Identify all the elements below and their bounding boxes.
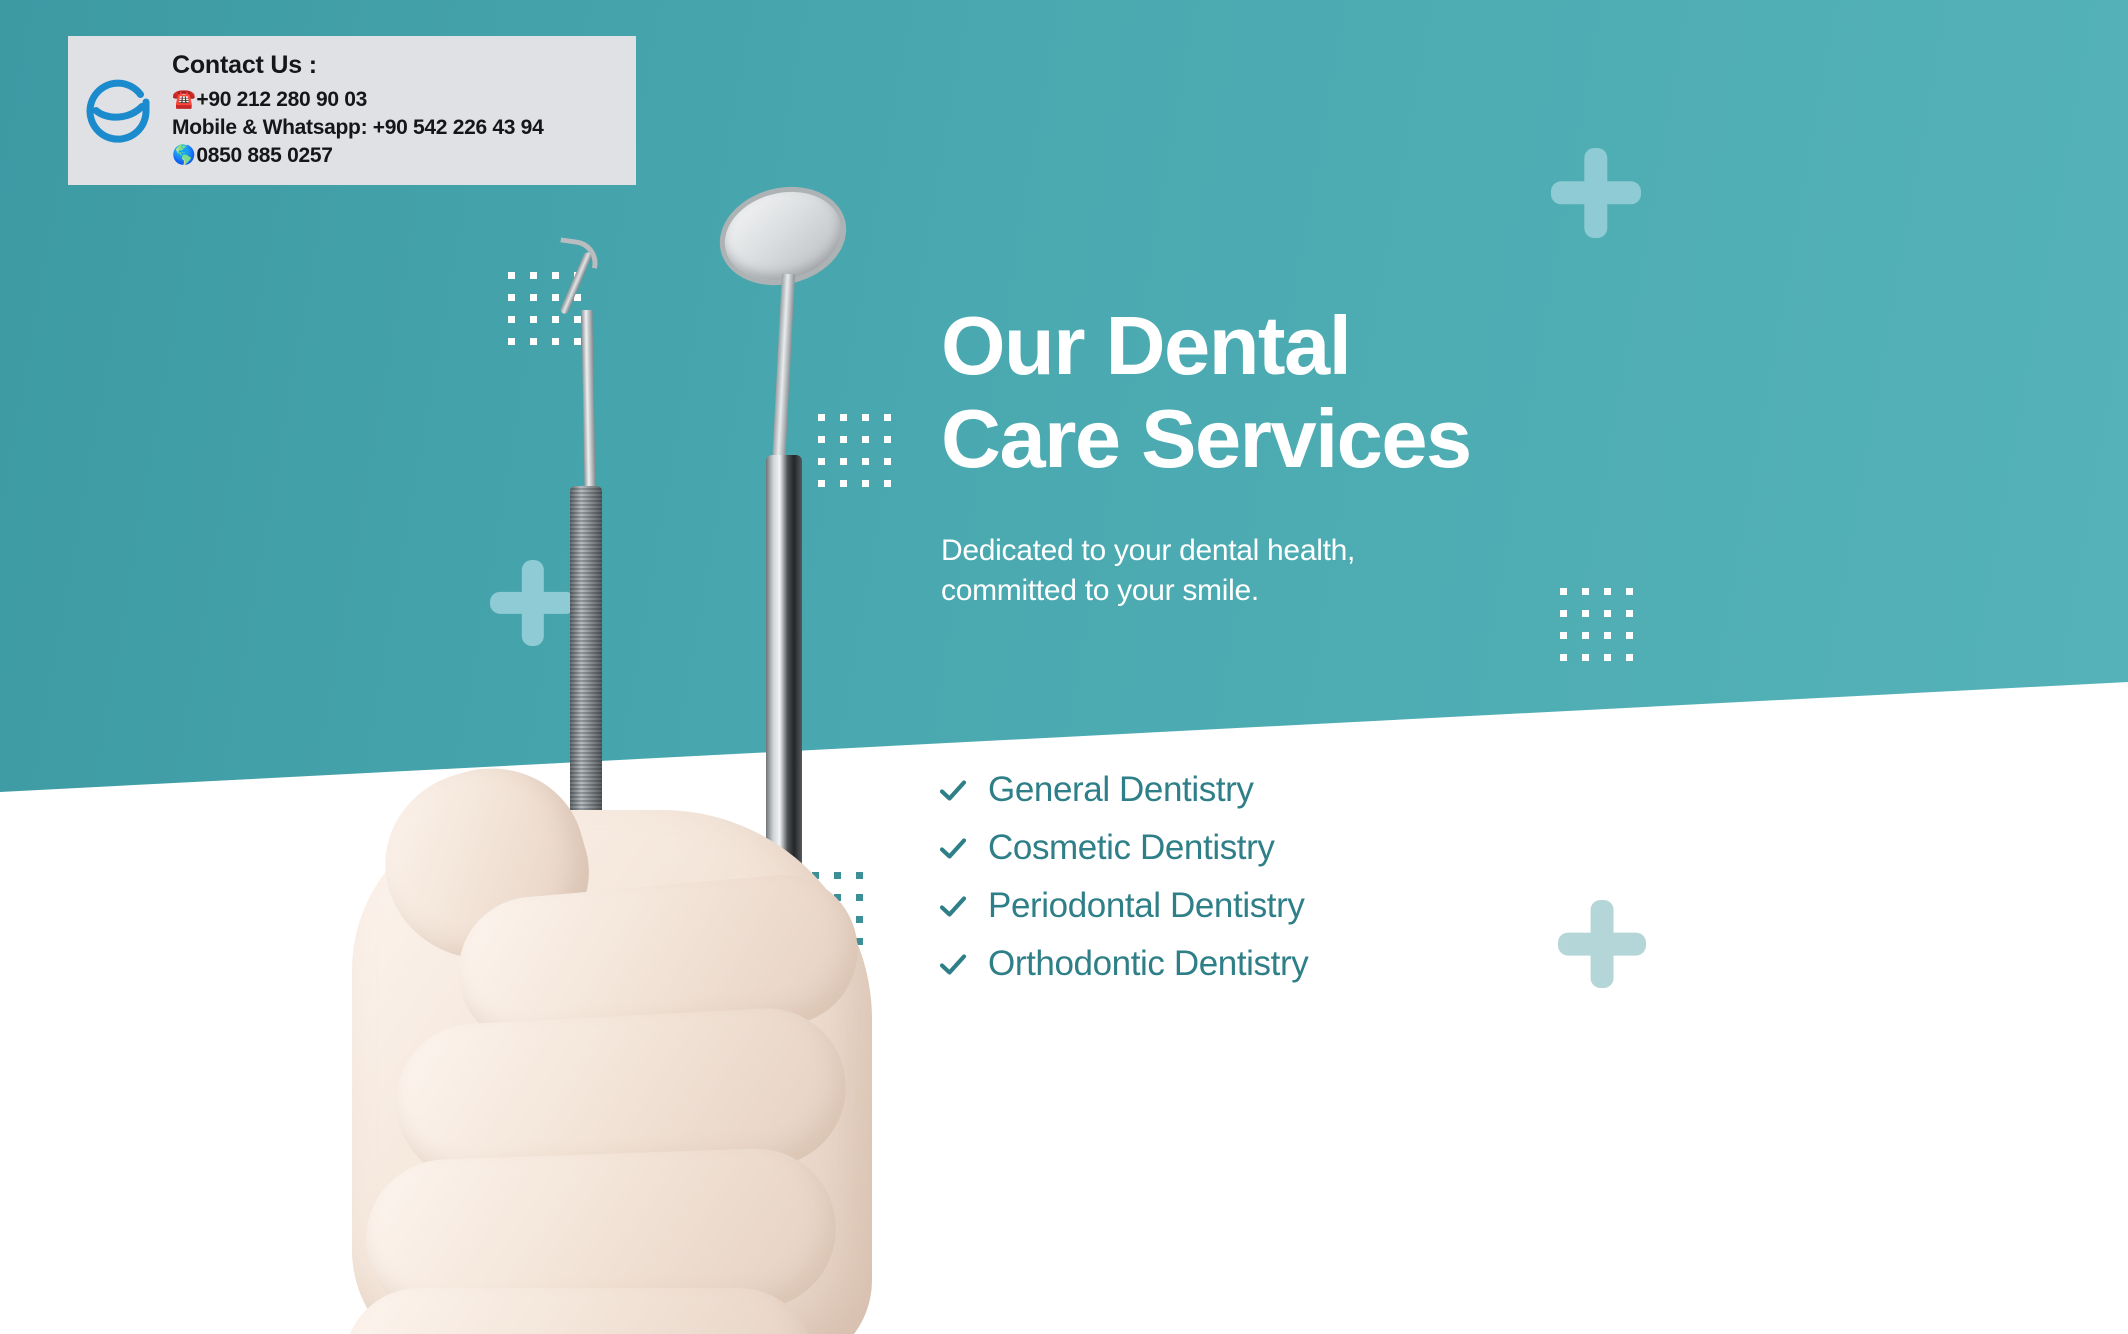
check-icon bbox=[938, 775, 968, 805]
dot-grid-decoration bbox=[818, 414, 890, 486]
contact-phone-value: +90 212 280 90 03 bbox=[196, 86, 367, 114]
page-title: Our Dental Care Services bbox=[941, 300, 1721, 486]
list-item[interactable]: General Dentistry bbox=[938, 770, 1578, 810]
contact-mobile-line: Mobile & Whatsapp: +90 542 226 43 94 bbox=[172, 114, 543, 142]
page-subtitle-line-1: Dedicated to your dental health, bbox=[941, 531, 1501, 571]
glove-finger-shape bbox=[392, 1004, 850, 1185]
check-icon bbox=[938, 891, 968, 921]
list-item[interactable]: Orthodontic Dentistry bbox=[938, 944, 1578, 984]
contact-hotline-value: 0850 885 0257 bbox=[196, 142, 332, 170]
plus-icon bbox=[490, 560, 576, 646]
service-label: Orthodontic Dentistry bbox=[988, 944, 1308, 984]
page-subtitle: Dedicated to your dental health, committ… bbox=[941, 531, 1501, 611]
list-item[interactable]: Periodontal Dentistry bbox=[938, 886, 1578, 926]
services-list: General Dentistry Cosmetic Dentistry Per… bbox=[938, 770, 1578, 984]
dot-grid-decoration bbox=[790, 872, 862, 944]
contact-details: Contact Us : ☎️ +90 212 280 90 03 Mobile… bbox=[172, 51, 543, 170]
page-title-line-1: Our Dental bbox=[941, 300, 1721, 393]
contact-hotline-line: 🌎 0850 885 0257 bbox=[172, 142, 543, 170]
service-label: Periodontal Dentistry bbox=[988, 886, 1304, 926]
service-label: General Dentistry bbox=[988, 770, 1254, 810]
list-item[interactable]: Cosmetic Dentistry bbox=[938, 828, 1578, 868]
globe-icon: 🌎 bbox=[172, 143, 195, 168]
check-icon bbox=[938, 833, 968, 863]
glove-finger-shape bbox=[344, 1288, 814, 1334]
service-label: Cosmetic Dentistry bbox=[988, 828, 1274, 868]
dot-grid-decoration bbox=[1560, 588, 1632, 660]
glove-finger-shape bbox=[363, 1146, 838, 1322]
page-subtitle-line-2: committed to your smile. bbox=[941, 571, 1501, 611]
contact-title: Contact Us : bbox=[172, 51, 543, 80]
dot-grid-decoration bbox=[508, 272, 580, 344]
page-title-line-2: Care Services bbox=[941, 393, 1721, 486]
contact-card: Contact Us : ☎️ +90 212 280 90 03 Mobile… bbox=[68, 36, 636, 185]
check-icon bbox=[938, 949, 968, 979]
plus-icon bbox=[1551, 148, 1641, 238]
glove-thumb-shape bbox=[364, 746, 609, 984]
telephone-icon: ☎️ bbox=[172, 87, 195, 112]
contact-phone-line: ☎️ +90 212 280 90 03 bbox=[172, 86, 543, 114]
dental-services-banner: Contact Us : ☎️ +90 212 280 90 03 Mobile… bbox=[0, 0, 2128, 1334]
smile-g-logo-icon bbox=[82, 74, 156, 148]
